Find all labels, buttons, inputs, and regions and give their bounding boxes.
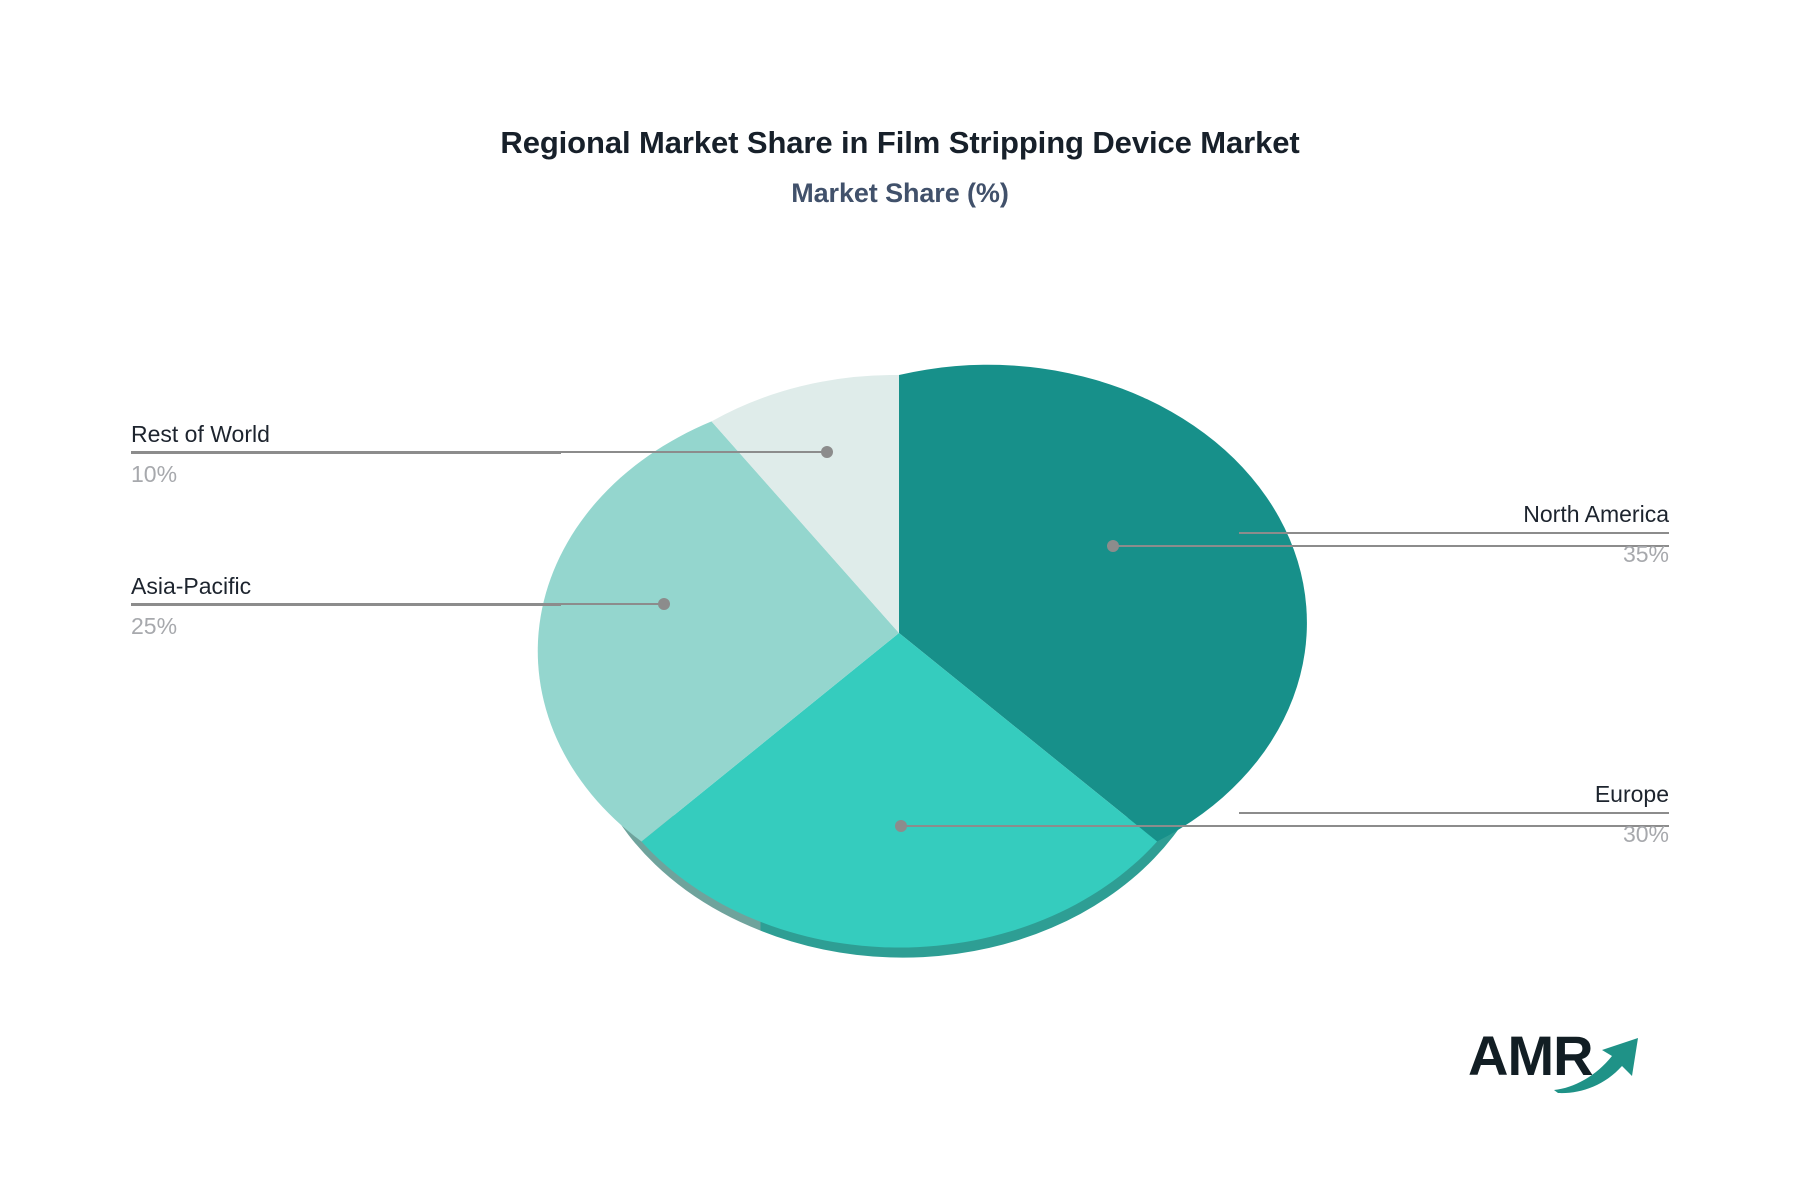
chart-canvas: Regional Market Share in Film Stripping … xyxy=(0,0,1800,1196)
callout-value-europe: 30% xyxy=(1239,820,1669,849)
callout-europe: Europe 30% xyxy=(1239,780,1669,849)
callout-rule xyxy=(1239,812,1669,814)
growth-arrow-icon xyxy=(1552,1032,1648,1094)
callout-label-rest-of-world: Rest of World xyxy=(131,420,561,449)
callout-value-asia-pacific: 25% xyxy=(131,612,561,641)
callout-label-north-america: North America xyxy=(1239,500,1669,529)
callout-value-north-america: 35% xyxy=(1239,540,1669,569)
callout-rest-of-world: Rest of World 10% xyxy=(131,420,561,489)
callout-north-america: North America 35% xyxy=(1239,500,1669,569)
callout-value-rest-of-world: 10% xyxy=(131,460,561,489)
callout-rule xyxy=(1239,532,1669,534)
callout-asia-pacific: Asia-Pacific 25% xyxy=(131,572,561,641)
callout-label-europe: Europe xyxy=(1239,780,1669,809)
callout-rule xyxy=(131,604,561,606)
callout-label-asia-pacific: Asia-Pacific xyxy=(131,572,561,601)
callout-rule xyxy=(131,452,561,454)
amr-logo: AMR xyxy=(1468,1028,1648,1100)
